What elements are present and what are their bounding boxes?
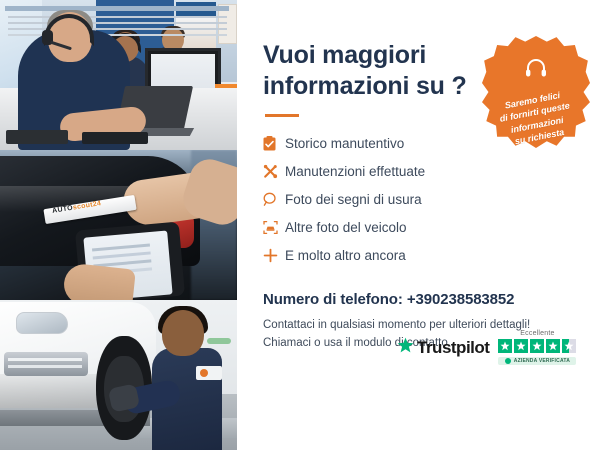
- list-item: Manutenzioni effettuate: [263, 157, 578, 185]
- rating-star-icon: [514, 339, 528, 353]
- title-divider: [265, 114, 299, 117]
- rating-star-icon: [498, 339, 512, 353]
- green-object-shape: [207, 338, 231, 344]
- list-item: Foto dei segni di usura: [263, 185, 578, 213]
- trustpilot-widget[interactable]: Trustpilot Eccellente: [397, 330, 576, 365]
- phone-number-label[interactable]: Numero di telefono: +390238583852: [263, 291, 578, 308]
- verified-check-icon: [505, 358, 511, 364]
- front-grille-shape: [4, 352, 88, 376]
- verified-badge: AZIENDA VERIFICATA: [498, 357, 576, 365]
- call-center-photo: [0, 0, 237, 150]
- list-item-label: Manutenzioni effettuate: [285, 164, 425, 179]
- list-item: Altre foto del veicolo: [263, 213, 578, 241]
- content-panel: Vuoi maggiori informazioni su ? Storico …: [237, 0, 600, 450]
- mechanic-head-shape: [162, 310, 204, 356]
- list-item-label: Altre foto del veicolo: [285, 220, 407, 235]
- grille-bar-shape: [8, 358, 82, 361]
- advertisement-banner: AUTOscout24: [0, 0, 600, 450]
- vehicle-inspection-photo: AUTOscout24: [0, 150, 237, 300]
- headset-icon: [525, 58, 547, 83]
- inspector-hand-lower: [62, 262, 136, 300]
- list-item-label: Foto dei segni di usura: [285, 192, 422, 207]
- keyboard-secondary-shape: [6, 130, 68, 144]
- rating-star-partial-icon: [562, 339, 576, 353]
- trustpilot-stars: [498, 339, 576, 353]
- callout-badge: Saremo felici di fornirti queste informa…: [482, 36, 590, 148]
- clipboard-check-icon: [263, 136, 285, 151]
- list-item: E molto altro ancora: [263, 241, 578, 269]
- photo-column: AUTOscout24: [0, 0, 237, 450]
- trustpilot-rating: Eccellente: [498, 330, 576, 365]
- mechanic-wheel-photo: [0, 300, 237, 450]
- verified-badge-label: AZIENDA VERIFICATA: [514, 358, 570, 364]
- keyboard-shape: [82, 132, 148, 144]
- list-item-label: Storico manutentivo: [285, 136, 404, 151]
- page-title: Vuoi maggiori informazioni su ?: [263, 40, 473, 101]
- trustpilot-star-icon: [397, 337, 414, 359]
- trustpilot-logo: Trustpilot: [397, 337, 489, 359]
- feature-list: Storico manutentivo Manutenzioni effettu…: [263, 129, 578, 269]
- uniform-badge-logo: [200, 369, 208, 377]
- plus-icon: [263, 248, 285, 263]
- magnifier-icon: [263, 192, 285, 207]
- car-scan-icon: [263, 220, 285, 235]
- headline-line-2: informazioni su ?: [263, 72, 467, 100]
- headlight-shape: [16, 312, 68, 334]
- monitor-rows-shape: [8, 16, 227, 18]
- tools-icon: [263, 164, 285, 179]
- rating-star-icon: [530, 339, 544, 353]
- rating-star-icon: [546, 339, 560, 353]
- trustpilot-wordmark: Trustpilot: [417, 338, 489, 358]
- monitor-toolbar-shape: [5, 6, 229, 11]
- headline-line-1: Vuoi maggiori: [263, 41, 426, 69]
- trustpilot-rating-label: Eccellente: [520, 330, 554, 337]
- list-item-label: E molto altro ancora: [285, 248, 406, 263]
